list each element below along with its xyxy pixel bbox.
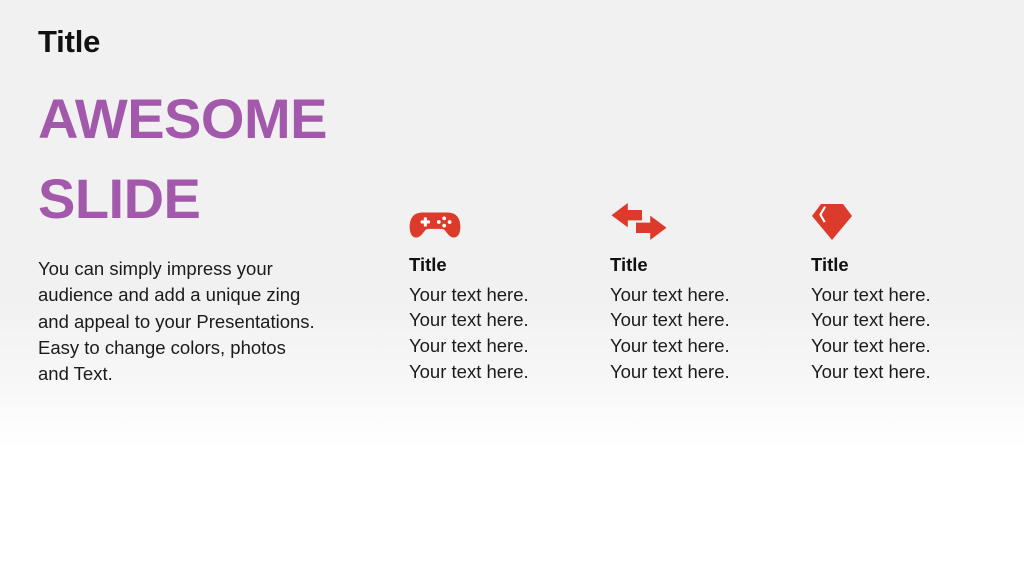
list-item: Your text here. — [811, 359, 1012, 385]
diamond-icon — [811, 196, 1012, 244]
list-item: Your text here. — [610, 307, 811, 333]
list-item: Your text here. — [610, 359, 811, 385]
body-line: audience and add a unique zing — [38, 282, 353, 308]
headline: AWESOME SLIDE — [38, 57, 378, 238]
list-item: Your text here. — [409, 282, 610, 308]
gamepad-icon — [409, 196, 610, 244]
feature-column-lines: Your text here. Your text here. Your tex… — [610, 275, 811, 386]
list-item: Your text here. — [409, 359, 610, 385]
list-item: Your text here. — [409, 333, 610, 359]
list-item: Your text here. — [811, 282, 1012, 308]
page-title: Title — [38, 26, 378, 57]
feature-column: Title Your text here. Your text here. Yo… — [811, 196, 1012, 385]
feature-column-title: Title — [409, 244, 610, 275]
list-item: Your text here. — [811, 333, 1012, 359]
exchange-arrows-icon — [610, 196, 811, 244]
body-paragraph: You can simply impress your audience and… — [38, 238, 353, 387]
slide-canvas: Title AWESOME SLIDE You can simply impre… — [0, 0, 1024, 576]
feature-column-title: Title — [811, 244, 1012, 275]
headline-line-2: SLIDE — [38, 159, 378, 239]
left-content-block: Title AWESOME SLIDE You can simply impre… — [38, 26, 378, 387]
feature-column: Title Your text here. Your text here. Yo… — [610, 196, 811, 385]
list-item: Your text here. — [811, 307, 1012, 333]
feature-column-title: Title — [610, 244, 811, 275]
list-item: Your text here. — [409, 307, 610, 333]
list-item: Your text here. — [610, 282, 811, 308]
list-item: Your text here. — [610, 333, 811, 359]
feature-column: Title Your text here. Your text here. Yo… — [409, 196, 610, 385]
body-line: Easy to change colors, photos — [38, 335, 353, 361]
body-line: and Text. — [38, 361, 353, 387]
feature-column-lines: Your text here. Your text here. Your tex… — [811, 275, 1012, 386]
feature-columns: Title Your text here. Your text here. Yo… — [409, 196, 1012, 385]
feature-column-lines: Your text here. Your text here. Your tex… — [409, 275, 610, 386]
body-line: You can simply impress your — [38, 256, 353, 282]
body-line: and appeal to your Presentations. — [38, 309, 353, 335]
headline-line-1: AWESOME — [38, 79, 378, 159]
